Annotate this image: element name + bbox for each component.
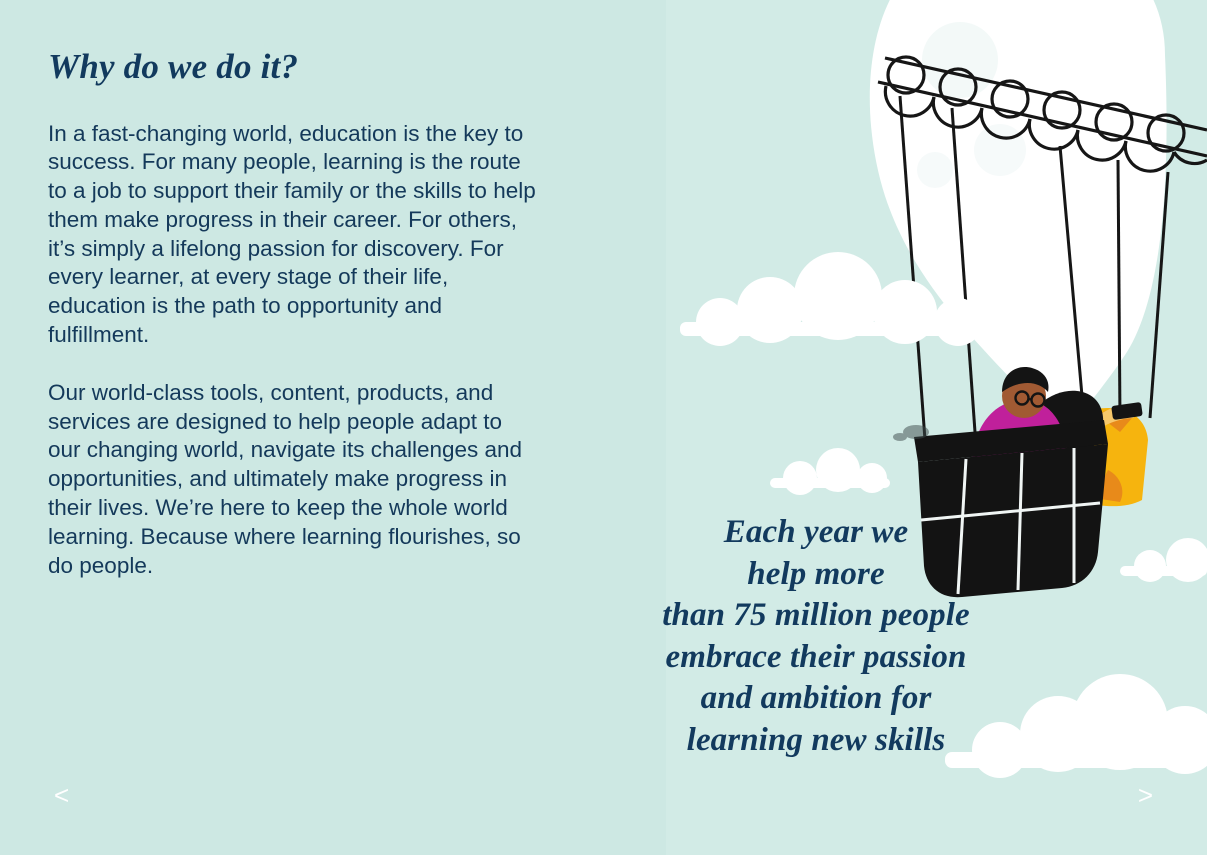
previous-slide-arrow-icon[interactable]: <	[46, 778, 77, 812]
body-paragraph-1: In a fast-changing world, education is t…	[48, 120, 540, 350]
quote-line-5: and ambition for	[606, 678, 1026, 720]
quote-line-2: help more	[606, 554, 1026, 596]
page-title: Why do we do it?	[48, 48, 548, 87]
quote-line-4: embrace their passion	[606, 637, 1026, 679]
quote-line-1: Each year we	[606, 512, 1026, 554]
slide-canvas: Why do we do it? In a fast-changing worl…	[0, 0, 1207, 855]
next-slide-arrow-icon[interactable]: >	[1130, 778, 1161, 812]
body-paragraph-2: Our world-class tools, content, products…	[48, 379, 540, 581]
quote-line-6: learning new skills	[606, 720, 1026, 762]
pull-quote: Each year we help more than 75 million p…	[606, 512, 1026, 761]
text-column: Why do we do it? In a fast-changing worl…	[48, 48, 548, 580]
quote-line-3: than 75 million people	[606, 595, 1026, 637]
